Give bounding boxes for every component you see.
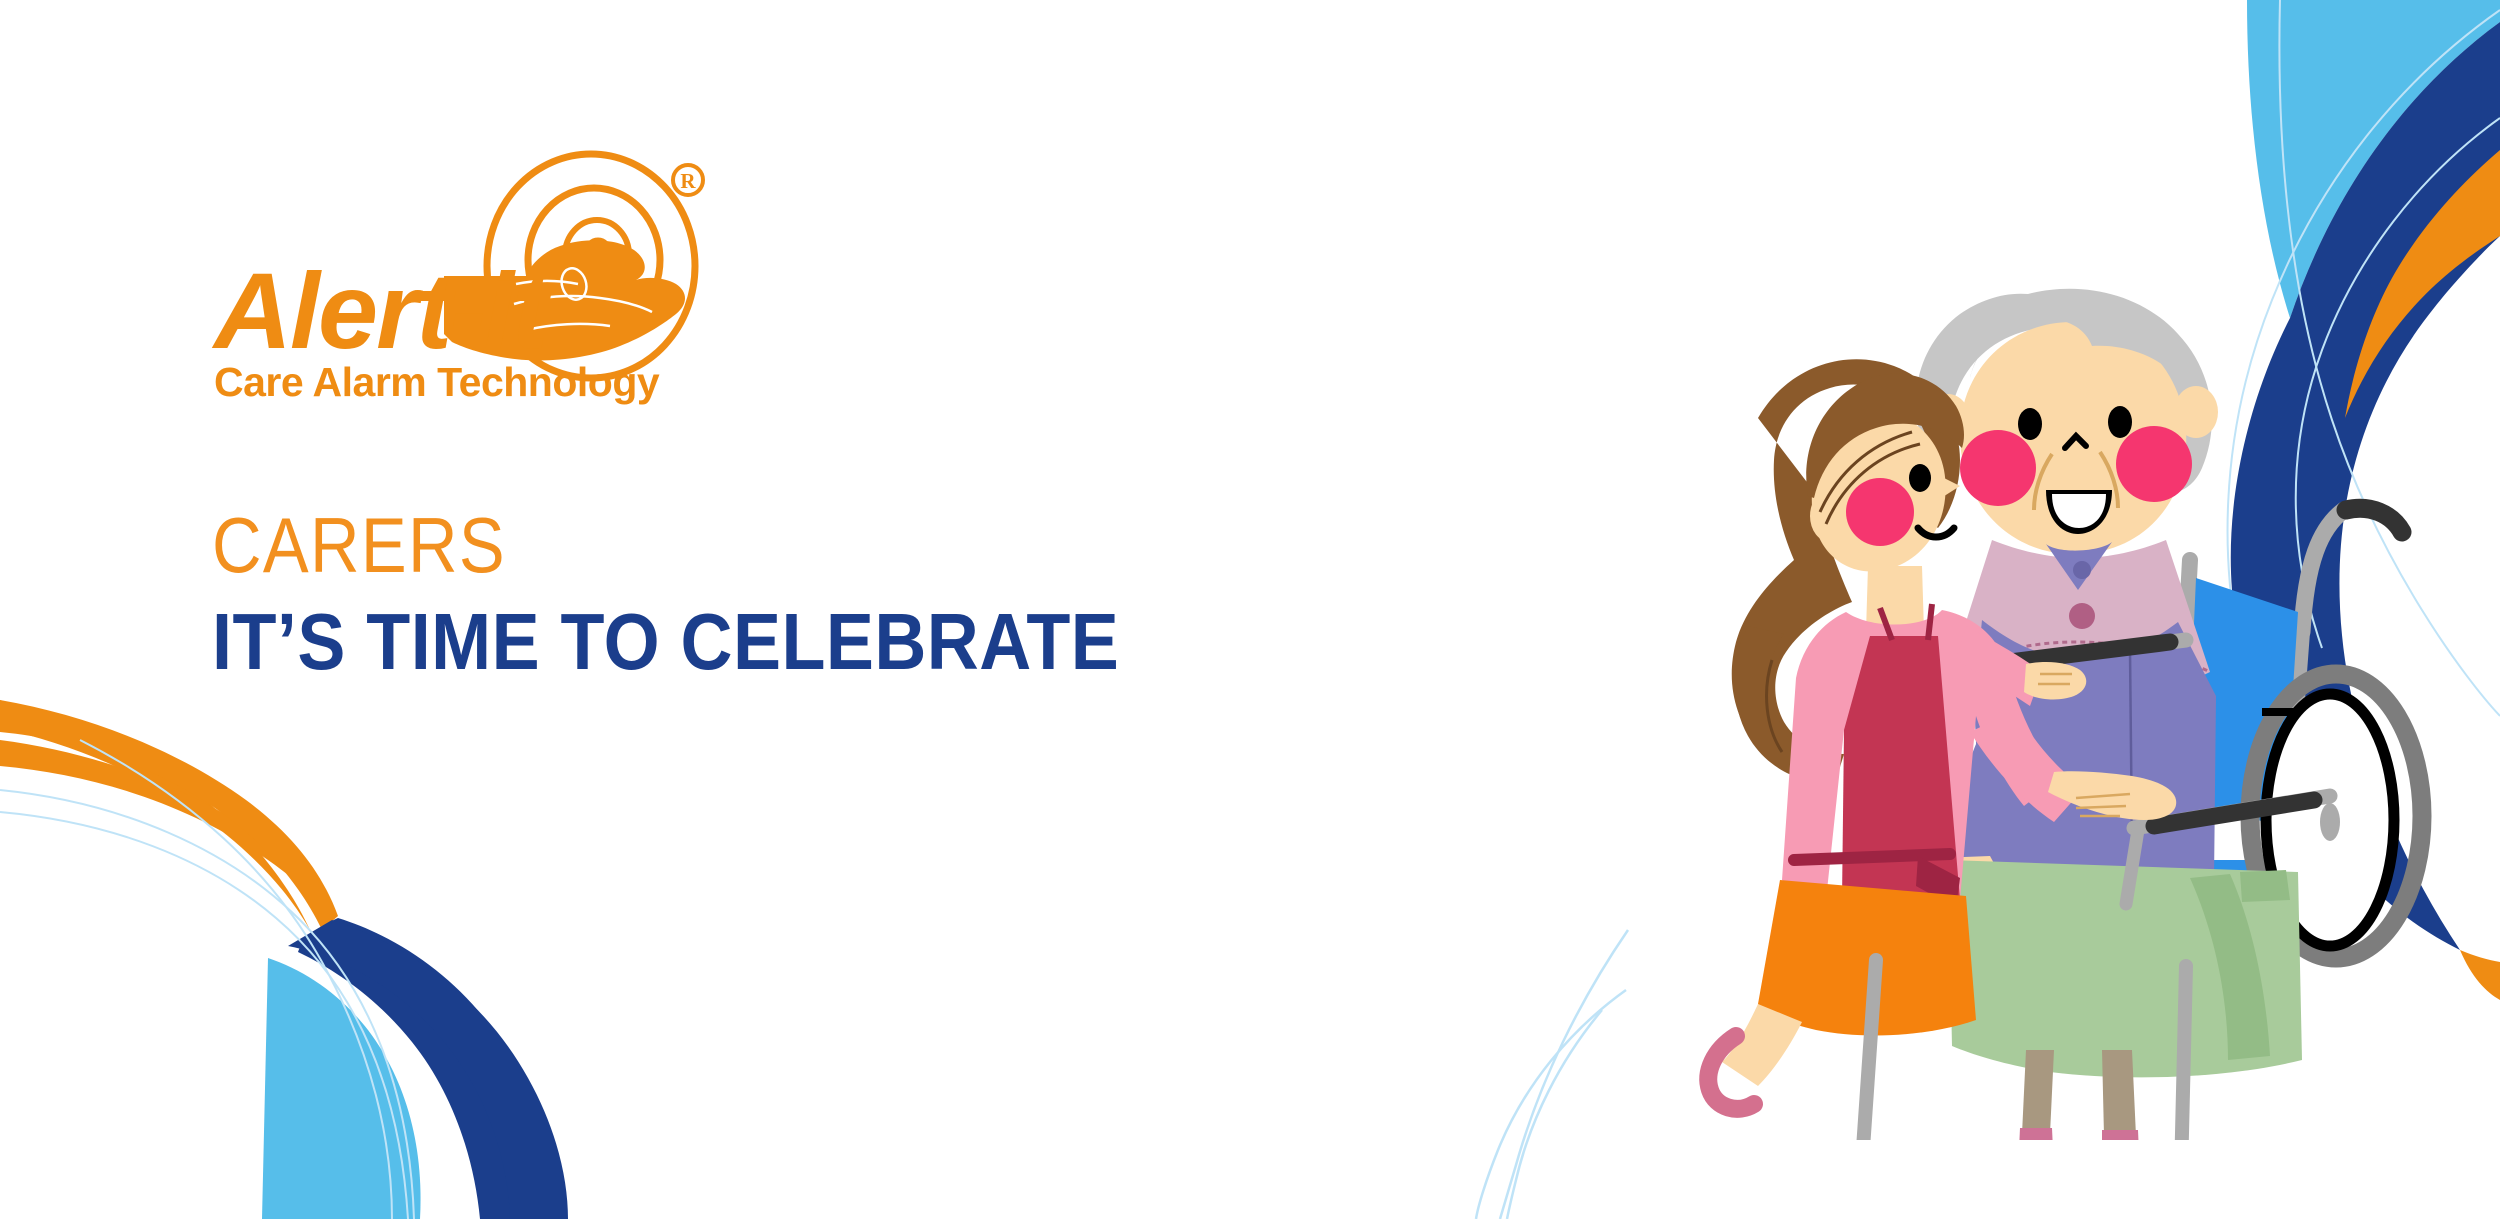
hairline-curve-bl-1 xyxy=(0,812,408,1219)
bottom-left-orange-swoosh-body xyxy=(0,740,334,918)
hairline-curve-mid-3 xyxy=(1507,1010,1602,1219)
hairline-curve-mid-2 xyxy=(1476,990,1626,1219)
elderly-blush-left xyxy=(1960,430,2036,506)
wheelchair-push-handle-grip-right xyxy=(2346,508,2402,532)
carer-wheelchair-illustration xyxy=(1630,260,2470,1140)
carer-wheelchair-illustration-svg xyxy=(1630,260,2470,1140)
bottom-left-navy-swoosh xyxy=(298,918,556,1219)
elderly-blush-right xyxy=(2116,426,2192,502)
hairline-curve-mid-1 xyxy=(1500,930,1628,1219)
elderly-leg-left xyxy=(2102,1050,2136,1136)
logo-wordmark: Alert-it xyxy=(211,250,552,371)
bottom-left-light-blue-body xyxy=(262,958,421,1219)
carer-eye xyxy=(1909,464,1931,492)
elderly-button-mid xyxy=(2069,603,2095,629)
elderly-eye-left xyxy=(2018,408,2042,440)
alert-it-logo-icon: R Alert-it Care Alarm Technology xyxy=(196,148,816,428)
elderly-blanket-knee xyxy=(2240,870,2290,902)
elderly-button-top xyxy=(2073,561,2091,579)
headline-kicker: CARERS xyxy=(212,506,1268,584)
carer-apron-tie xyxy=(1794,854,1950,860)
bottom-left-light-blue-swoosh xyxy=(272,974,418,1219)
brand-logo[interactable]: R Alert-it Care Alarm Technology xyxy=(196,148,816,428)
wheelchair-front-frame-right xyxy=(2178,966,2186,1140)
hairline-curve-bl-2 xyxy=(0,790,414,1219)
trademark-registered-icon: R xyxy=(673,165,703,195)
wheel-hub xyxy=(2320,803,2340,841)
carer-blush xyxy=(1846,478,1914,546)
hairline-curve-bl-3 xyxy=(80,740,392,1219)
svg-text:R: R xyxy=(680,169,696,193)
wheelchair-push-handle-frame-right xyxy=(2302,510,2344,632)
bottom-left-navy-body xyxy=(288,920,568,1219)
carer-neck xyxy=(1866,566,1924,632)
banner-root: R Alert-it Care Alarm Technology CARERS … xyxy=(0,0,2500,1219)
carer-apron-strap-right xyxy=(1928,604,1932,640)
logo-tagline: Care Alarm Technology xyxy=(214,359,660,405)
headline-block: CARERS IT’S TIME TO CELEBRATE xyxy=(212,506,1412,682)
elderly-sock-left xyxy=(2102,1130,2140,1140)
elderly-sock-right xyxy=(2018,1128,2054,1140)
headline-title: IT’S TIME TO CELEBRATE xyxy=(212,602,1292,682)
bottom-left-orange-swoosh xyxy=(0,700,310,930)
bottom-left-orange-fill xyxy=(0,700,338,930)
elderly-eye-right xyxy=(2108,406,2132,438)
elderly-leg-right xyxy=(2022,1050,2054,1134)
